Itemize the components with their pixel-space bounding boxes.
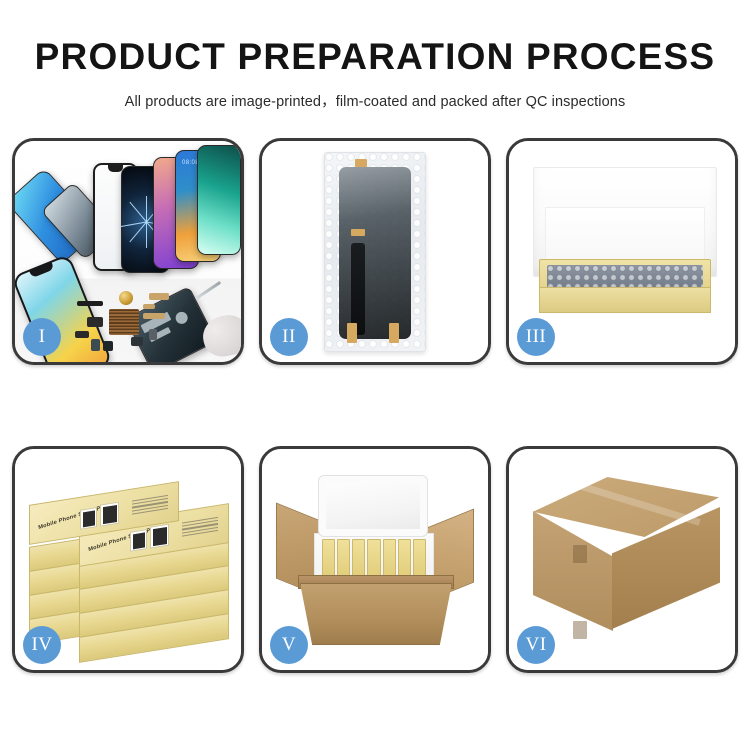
step-badge-6: VI	[517, 626, 555, 664]
tape-icon	[351, 229, 365, 236]
yellow-box-front-panel-icon	[539, 287, 711, 313]
process-step-card-1: 08:08	[12, 138, 244, 365]
step-badge-1: I	[23, 318, 61, 356]
yellow-boxes-inside	[322, 539, 426, 577]
button-part-icon	[103, 341, 113, 351]
box-label-screen-image	[100, 502, 119, 527]
tape-icon	[355, 159, 367, 167]
flex-cable-icon	[149, 293, 169, 300]
ic-chip-grid-icon	[109, 309, 139, 335]
sim-tray-icon	[131, 337, 143, 346]
box-label-feature-lines	[132, 495, 168, 517]
carton-body-icon	[300, 583, 452, 645]
step-badge-2: II	[270, 318, 308, 356]
wrapped-phone-part-icon	[339, 167, 411, 339]
tape-icon	[347, 323, 357, 343]
camera-module-icon	[87, 317, 103, 327]
box-label-screen-image	[150, 524, 169, 549]
carton-left-face-icon	[533, 511, 613, 631]
box-label-screen-image	[130, 529, 147, 552]
step-badge-4: IV	[23, 626, 61, 664]
carton-tab-icon	[573, 621, 587, 639]
process-step-card-6: VI	[506, 446, 738, 673]
wrapped-flex-cable-icon	[351, 243, 365, 335]
page-subtitle: All products are image-printed，film-coat…	[0, 90, 750, 111]
carton-tab-icon	[573, 545, 587, 563]
step-badge-5: V	[270, 626, 308, 664]
header: PRODUCT PREPARATION PROCESS All products…	[0, 0, 750, 111]
small-module-icon	[149, 329, 157, 340]
connector-icon	[75, 331, 89, 338]
tweezers-icon	[195, 281, 222, 300]
product-preparation-infographic: PRODUCT PREPARATION PROCESS All products…	[0, 0, 750, 750]
box-label-feature-lines	[182, 517, 218, 539]
ribbon-cable-icon	[143, 313, 165, 319]
bubble-wrap-bag-icon	[324, 152, 426, 352]
flex-cable-small-icon	[143, 304, 155, 309]
speaker-coil-icon	[119, 291, 133, 305]
box-label-screen-image	[80, 507, 97, 530]
vibrator-icon	[91, 339, 100, 351]
process-step-grid: 08:08	[12, 138, 738, 683]
foam-lid-icon	[318, 475, 428, 537]
step-badge-3: III	[517, 318, 555, 356]
battery-connector-icon	[77, 301, 103, 306]
process-step-card-4: Mobile Phone Spare Parts Mobile Phone Sp…	[12, 446, 244, 673]
process-step-card-5: V	[259, 446, 491, 673]
teal-gradient-phone-icon	[197, 145, 241, 255]
process-step-card-3: III	[506, 138, 738, 365]
process-step-card-2: II	[259, 138, 491, 365]
page-title: PRODUCT PREPARATION PROCESS	[0, 38, 750, 77]
box-stack: Mobile Phone Spare Parts Mobile Phone Sp…	[23, 471, 239, 657]
tape-icon	[389, 323, 399, 343]
